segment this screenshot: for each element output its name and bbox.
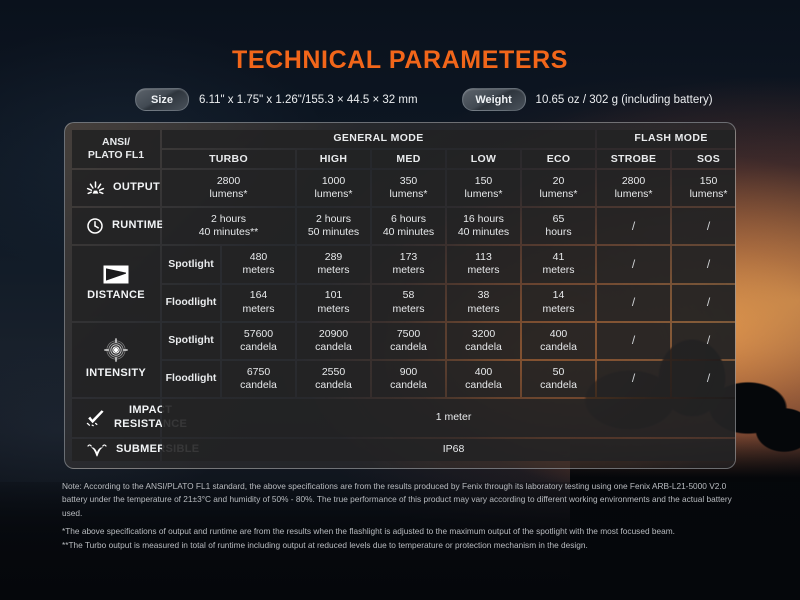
size-value: 6.11" x 1.75" x 1.26"/155.3 × 44.5 × 32 … bbox=[199, 94, 418, 106]
row-label-distance-text: DISTANCE bbox=[87, 289, 145, 303]
intensity-target-icon bbox=[104, 338, 128, 362]
cell-distance-floodlight-turbo-value: 164 bbox=[250, 289, 268, 301]
cell-runtime-high-value: 2 hours bbox=[316, 213, 351, 225]
sublabel-intensity-floodlight: Floodlight bbox=[162, 361, 220, 397]
impact-resistance-icon bbox=[86, 409, 106, 427]
cell-intensity-spotlight-eco-value: 400 bbox=[550, 328, 568, 340]
row-label-runtime-text: RUNTIME bbox=[112, 219, 164, 233]
row-label-runtime: RUNTIME bbox=[72, 208, 160, 244]
sublabel-distance-floodlight: Floodlight bbox=[162, 285, 220, 321]
sublabel-distance-spotlight: Spotlight bbox=[162, 246, 220, 282]
table-row-intensity-floodlight: Floodlight 6750candela 2550candela 900ca… bbox=[72, 361, 736, 397]
cell-distance-floodlight-high: 101meters bbox=[297, 285, 370, 321]
cell-distance-spotlight-low: 113meters bbox=[447, 246, 520, 282]
cell-intensity-floodlight-high-unit: candela bbox=[297, 379, 370, 392]
row-label-output-text: OUTPUT bbox=[113, 181, 160, 195]
cell-distance-floodlight-sos: / bbox=[672, 285, 736, 321]
cell-output-eco-unit: lumens* bbox=[522, 188, 595, 201]
cell-output-eco: 20lumens* bbox=[522, 170, 595, 206]
cell-distance-spotlight-turbo: 480meters bbox=[222, 246, 295, 282]
ansi-plato-label: ANSI/ PLATO FL1 bbox=[72, 130, 160, 168]
weight-value: 10.65 oz / 302 g (including battery) bbox=[536, 94, 713, 106]
cell-distance-spotlight-high: 289meters bbox=[297, 246, 370, 282]
cell-intensity-spotlight-low: 3200candela bbox=[447, 323, 520, 359]
cell-distance-spotlight-low-value: 113 bbox=[475, 251, 492, 263]
cell-intensity-spotlight-eco-unit: candela bbox=[522, 341, 595, 354]
cell-intensity-floodlight-turbo-value: 6750 bbox=[247, 366, 270, 378]
cell-output-med-unit: lumens* bbox=[372, 188, 445, 201]
cell-intensity-spotlight-sos-value: / bbox=[707, 333, 710, 347]
beam-distance-icon bbox=[103, 265, 129, 284]
sublabel-intensity-spotlight: Spotlight bbox=[162, 323, 220, 359]
cell-distance-floodlight-turbo: 164meters bbox=[222, 285, 295, 321]
cell-runtime-eco-value: 65 bbox=[553, 213, 565, 225]
cell-output-high-value: 1000 bbox=[322, 175, 345, 187]
cell-intensity-spotlight-strobe: / bbox=[597, 323, 670, 359]
cell-intensity-spotlight-turbo-unit: candela bbox=[222, 341, 295, 354]
light-burst-icon bbox=[86, 180, 105, 197]
cell-distance-spotlight-sos-value: / bbox=[707, 257, 710, 271]
column-header-turbo: TURBO bbox=[162, 150, 295, 168]
cell-intensity-floodlight-sos-value: / bbox=[707, 371, 710, 385]
row-label-intensity-text: INTENSITY bbox=[86, 367, 146, 381]
cell-output-low-value: 150 bbox=[475, 175, 493, 187]
cell-distance-floodlight-strobe: / bbox=[597, 285, 670, 321]
cell-runtime-high: 2 hours50 minutes bbox=[297, 208, 370, 244]
cell-intensity-floodlight-turbo-unit: candela bbox=[222, 379, 295, 392]
table-header-columns-row: TURBO HIGH MED LOW ECO STROBE SOS bbox=[72, 150, 736, 168]
cell-intensity-floodlight-eco: 50candela bbox=[522, 361, 595, 397]
cell-distance-spotlight-high-value: 289 bbox=[325, 251, 343, 263]
cell-distance-spotlight-high-unit: meters bbox=[297, 264, 370, 277]
cell-runtime-high-unit: 50 minutes bbox=[297, 226, 370, 239]
cell-output-eco-value: 20 bbox=[553, 175, 565, 187]
cell-intensity-floodlight-eco-unit: candela bbox=[522, 379, 595, 392]
cell-distance-floodlight-turbo-unit: meters bbox=[222, 303, 295, 316]
cell-intensity-spotlight-high-value: 20900 bbox=[319, 328, 348, 340]
cell-distance-spotlight-eco: 41meters bbox=[522, 246, 595, 282]
cell-intensity-spotlight-turbo: 57600candela bbox=[222, 323, 295, 359]
footnote-single-star: *The above specifications of output and … bbox=[62, 525, 748, 538]
cell-distance-floodlight-eco-unit: meters bbox=[522, 303, 595, 316]
cell-output-strobe: 2800lumens* bbox=[597, 170, 670, 206]
ansi-line-1: ANSI/ bbox=[72, 136, 160, 149]
column-header-strobe: STROBE bbox=[597, 150, 670, 168]
cell-distance-spotlight-eco-value: 41 bbox=[553, 251, 565, 263]
cell-intensity-spotlight-med-value: 7500 bbox=[397, 328, 420, 340]
cell-intensity-floodlight-low-unit: candela bbox=[447, 379, 520, 392]
cell-runtime-strobe-value: / bbox=[632, 219, 635, 233]
table-row-distance-floodlight: Floodlight 164meters 101meters 58meters … bbox=[72, 285, 736, 321]
cell-output-strobe-value: 2800 bbox=[622, 175, 645, 187]
clock-icon bbox=[86, 217, 104, 235]
footnotes: Note: According to the ANSI/PLATO FL1 st… bbox=[62, 480, 748, 552]
group-general-mode: GENERAL MODE bbox=[162, 130, 595, 148]
cell-intensity-spotlight-high: 20900candela bbox=[297, 323, 370, 359]
column-header-med: MED bbox=[372, 150, 445, 168]
footnote-double-star: **The Turbo output is measured in total … bbox=[62, 539, 748, 552]
cell-runtime-eco: 65hours bbox=[522, 208, 595, 244]
table-row-runtime: RUNTIME 2 hours40 minutes** 2 hours50 mi… bbox=[72, 208, 736, 244]
cell-distance-floodlight-med-unit: meters bbox=[372, 303, 445, 316]
cell-intensity-floodlight-high-value: 2550 bbox=[322, 366, 345, 378]
footnote-note: Note: According to the ANSI/PLATO FL1 st… bbox=[62, 480, 748, 520]
table-row-distance-spotlight: DISTANCE Spotlight 480meters 289meters 1… bbox=[72, 246, 736, 282]
cell-output-high: 1000lumens* bbox=[297, 170, 370, 206]
cell-intensity-spotlight-med: 7500candela bbox=[372, 323, 445, 359]
cell-distance-floodlight-low-unit: meters bbox=[447, 303, 520, 316]
cell-distance-floodlight-sos-value: / bbox=[707, 295, 710, 309]
weight-pill-label: Weight bbox=[462, 88, 526, 111]
cell-distance-spotlight-eco-unit: meters bbox=[522, 264, 595, 277]
cell-output-med-value: 350 bbox=[400, 175, 418, 187]
cell-intensity-spotlight-sos: / bbox=[672, 323, 736, 359]
cell-intensity-spotlight-high-unit: candela bbox=[297, 341, 370, 354]
cell-distance-floodlight-low: 38meters bbox=[447, 285, 520, 321]
cell-distance-floodlight-strobe-value: / bbox=[632, 295, 635, 309]
cell-runtime-strobe: / bbox=[597, 208, 670, 244]
size-pill-label: Size bbox=[135, 88, 189, 111]
cell-output-strobe-unit: lumens* bbox=[597, 188, 670, 201]
cell-runtime-turbo-value: 2 hours bbox=[211, 213, 246, 225]
cell-intensity-spotlight-eco: 400candela bbox=[522, 323, 595, 359]
technical-parameters-table: ANSI/ PLATO FL1 GENERAL MODE FLASH MODE … bbox=[64, 122, 736, 469]
cell-intensity-spotlight-strobe-value: / bbox=[632, 333, 635, 347]
cell-intensity-floodlight-low-value: 400 bbox=[475, 366, 493, 378]
cell-runtime-turbo-unit: 40 minutes** bbox=[162, 226, 295, 239]
cell-distance-floodlight-eco-value: 14 bbox=[553, 289, 565, 301]
ansi-line-2: PLATO FL1 bbox=[72, 149, 160, 162]
cell-output-turbo: 2800lumens* bbox=[162, 170, 295, 206]
cell-runtime-med-value: 6 hours bbox=[391, 213, 426, 225]
row-label-intensity: INTENSITY bbox=[72, 323, 160, 397]
cell-intensity-spotlight-low-unit: candela bbox=[447, 341, 520, 354]
cell-intensity-floodlight-med: 900candela bbox=[372, 361, 445, 397]
table-row-output: OUTPUT 2800lumens* 1000lumens* 350lumens… bbox=[72, 170, 736, 206]
cell-intensity-floodlight-eco-value: 50 bbox=[553, 366, 565, 378]
cell-runtime-turbo: 2 hours40 minutes** bbox=[162, 208, 295, 244]
cell-distance-spotlight-low-unit: meters bbox=[447, 264, 520, 277]
cell-runtime-eco-unit: hours bbox=[522, 226, 595, 239]
cell-intensity-floodlight-med-value: 900 bbox=[400, 366, 418, 378]
cell-distance-spotlight-strobe-value: / bbox=[632, 257, 635, 271]
water-drop-icon bbox=[86, 442, 108, 458]
group-flash-mode: FLASH MODE bbox=[597, 130, 736, 148]
cell-intensity-floodlight-strobe-value: / bbox=[632, 371, 635, 385]
cell-runtime-low: 16 hours40 minutes bbox=[447, 208, 520, 244]
cell-distance-spotlight-sos: / bbox=[672, 246, 736, 282]
column-header-sos: SOS bbox=[672, 150, 736, 168]
cell-intensity-floodlight-turbo: 6750candela bbox=[222, 361, 295, 397]
cell-distance-spotlight-turbo-value: 480 bbox=[250, 251, 268, 263]
cell-distance-spotlight-med: 173meters bbox=[372, 246, 445, 282]
column-header-eco: ECO bbox=[522, 150, 595, 168]
cell-runtime-med-unit: 40 minutes bbox=[372, 226, 445, 239]
cell-runtime-sos: / bbox=[672, 208, 736, 244]
cell-runtime-low-unit: 40 minutes bbox=[447, 226, 520, 239]
cell-intensity-floodlight-med-unit: candela bbox=[372, 379, 445, 392]
row-label-output: OUTPUT bbox=[72, 170, 160, 206]
cell-runtime-low-value: 16 hours bbox=[463, 213, 504, 225]
cell-output-turbo-value: 2800 bbox=[217, 175, 240, 187]
cell-distance-floodlight-med-value: 58 bbox=[403, 289, 415, 301]
cell-intensity-floodlight-strobe: / bbox=[597, 361, 670, 397]
cell-distance-floodlight-high-unit: meters bbox=[297, 303, 370, 316]
cell-distance-floodlight-eco: 14meters bbox=[522, 285, 595, 321]
spec-summary-row: Size 6.11" x 1.75" x 1.26"/155.3 × 44.5 … bbox=[135, 88, 713, 111]
cell-intensity-floodlight-high: 2550candela bbox=[297, 361, 370, 397]
page-title: TECHNICAL PARAMETERS bbox=[0, 46, 800, 75]
cell-runtime-sos-value: / bbox=[707, 219, 710, 233]
cell-distance-spotlight-strobe: / bbox=[597, 246, 670, 282]
column-header-high: HIGH bbox=[297, 150, 370, 168]
cell-output-sos: 150lumens* bbox=[672, 170, 736, 206]
table-row-impact-resistance: IMPACT RESISTANCE 1 meter bbox=[72, 399, 736, 437]
cell-distance-spotlight-med-value: 173 bbox=[400, 251, 418, 263]
row-label-distance: DISTANCE bbox=[72, 246, 160, 320]
table-row-intensity-spotlight: INTENSITY Spotlight 57600candela 20900ca… bbox=[72, 323, 736, 359]
cell-distance-floodlight-low-value: 38 bbox=[478, 289, 490, 301]
cell-distance-floodlight-high-value: 101 bbox=[325, 289, 343, 301]
cell-intensity-floodlight-sos: / bbox=[672, 361, 736, 397]
cell-distance-floodlight-med: 58meters bbox=[372, 285, 445, 321]
cell-output-high-unit: lumens* bbox=[297, 188, 370, 201]
cell-submersible-value: IP68 bbox=[162, 439, 736, 461]
cell-output-sos-unit: lumens* bbox=[672, 188, 736, 201]
cell-output-turbo-unit: lumens* bbox=[162, 188, 295, 201]
cell-impact-resistance-value: 1 meter bbox=[162, 399, 736, 437]
cell-intensity-floodlight-low: 400candela bbox=[447, 361, 520, 397]
table-header-group-row: ANSI/ PLATO FL1 GENERAL MODE FLASH MODE bbox=[72, 130, 736, 148]
cell-runtime-med: 6 hours40 minutes bbox=[372, 208, 445, 244]
cell-output-low-unit: lumens* bbox=[447, 188, 520, 201]
row-label-submersible: SUBMERSIBLE bbox=[72, 439, 160, 461]
cell-intensity-spotlight-med-unit: candela bbox=[372, 341, 445, 354]
cell-distance-spotlight-med-unit: meters bbox=[372, 264, 445, 277]
cell-intensity-spotlight-turbo-value: 57600 bbox=[244, 328, 273, 340]
cell-output-med: 350lumens* bbox=[372, 170, 445, 206]
column-header-low: LOW bbox=[447, 150, 520, 168]
table-row-submersible: SUBMERSIBLE IP68 bbox=[72, 439, 736, 461]
cell-output-sos-value: 150 bbox=[700, 175, 718, 187]
cell-intensity-spotlight-low-value: 3200 bbox=[472, 328, 495, 340]
cell-output-low: 150lumens* bbox=[447, 170, 520, 206]
cell-distance-spotlight-turbo-unit: meters bbox=[222, 264, 295, 277]
row-label-impact-resistance: IMPACT RESISTANCE bbox=[72, 399, 160, 437]
